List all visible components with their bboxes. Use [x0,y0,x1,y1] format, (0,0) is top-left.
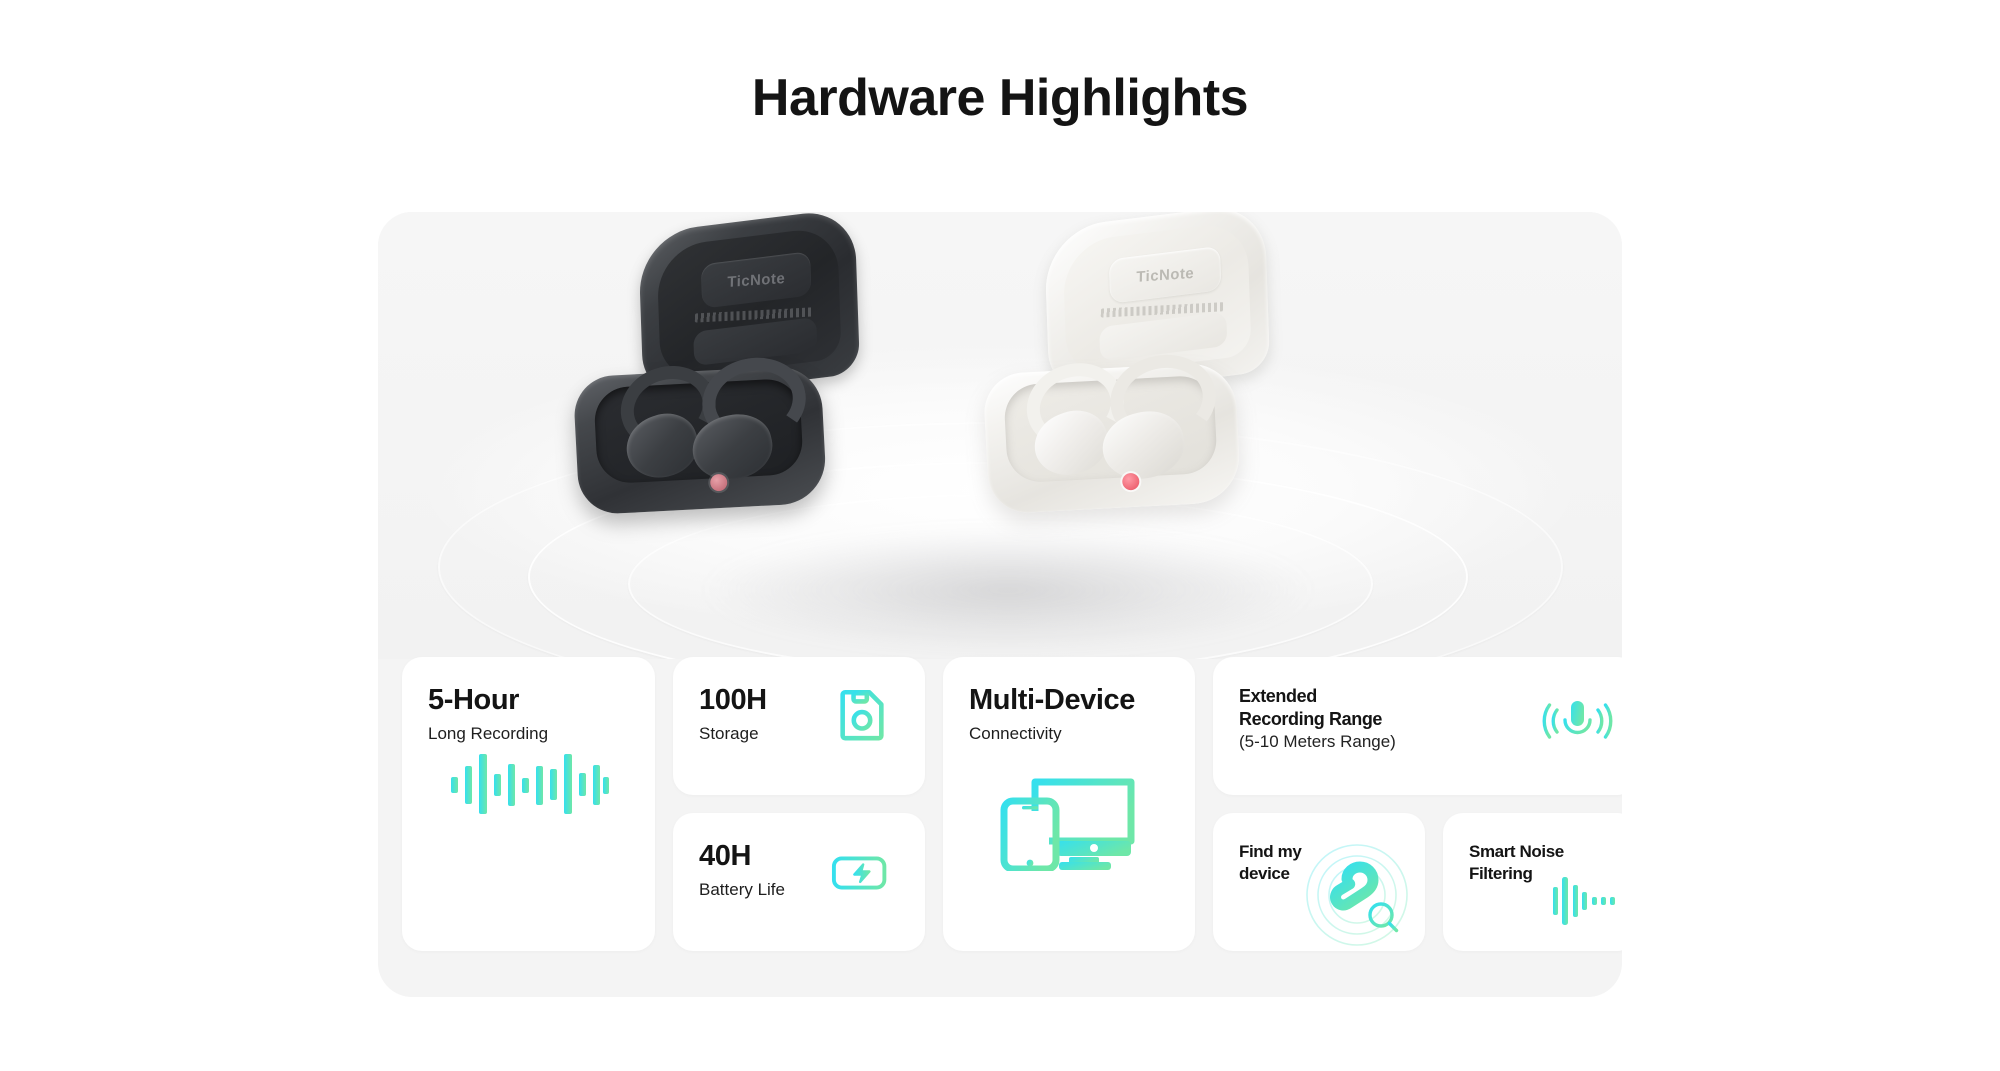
white-case-brand-plate: TicNote [1109,246,1222,304]
card-find-my-device[interactable]: Find my device [1213,813,1425,951]
black-case-lid-inner: TicNote [656,226,841,381]
black-case-brand-label: TicNote [727,269,785,290]
noise-waveform-icon [1553,875,1619,927]
white-case-brand-label: TicNote [1136,264,1194,285]
audio-waveform-icon [449,749,609,819]
card-multi-device-subtitle: Connectivity [969,724,1171,744]
card-recording-range[interactable]: Extended Recording Range (5-10 Meters Ra… [1213,657,1622,795]
black-charging-case: TicNote [576,221,861,521]
white-case-lid-inner: TicNote [1062,220,1251,377]
card-smart-noise-filtering-title-line1: Smart Noise [1469,841,1613,863]
floppy-save-icon [833,685,891,743]
card-multi-device[interactable]: Multi-Device Connectivity [943,657,1195,951]
earbud-radar-search-icon [1299,837,1419,949]
black-case-cavity [593,378,804,485]
card-long-recording-title: 5-Hour [428,685,631,715]
white-charging-case: TicNote [986,216,1276,516]
battery-charging-icon [831,849,897,897]
card-long-recording[interactable]: 5-Hour Long Recording [402,657,655,951]
hardware-highlights-bento: TicNote T [378,212,1622,997]
page-title: Hardware Highlights [0,68,2000,128]
card-long-recording-subtitle: Long Recording [428,724,631,744]
feature-card-grid: 5-Hour Long Recording [402,657,1598,977]
white-case-base [983,362,1242,515]
card-multi-device-title: Multi-Device [969,685,1171,715]
phone-and-monitor-icon [999,769,1139,871]
white-case-cavity [1003,375,1218,484]
card-storage[interactable]: 100H Storage [673,657,925,795]
card-smart-noise-filtering[interactable]: Smart Noise Filtering [1443,813,1622,951]
white-earbud-indicator-dot [1122,473,1140,491]
card-battery[interactable]: 40H Battery Life [673,813,925,951]
black-case-brand-plate: TicNote [701,251,812,309]
black-case-base [573,365,828,516]
microphone-waves-icon [1539,693,1615,751]
product-hero-image: TicNote T [378,212,1622,659]
product-shadow [708,530,1308,650]
black-earbud-indicator-dot [710,474,728,492]
